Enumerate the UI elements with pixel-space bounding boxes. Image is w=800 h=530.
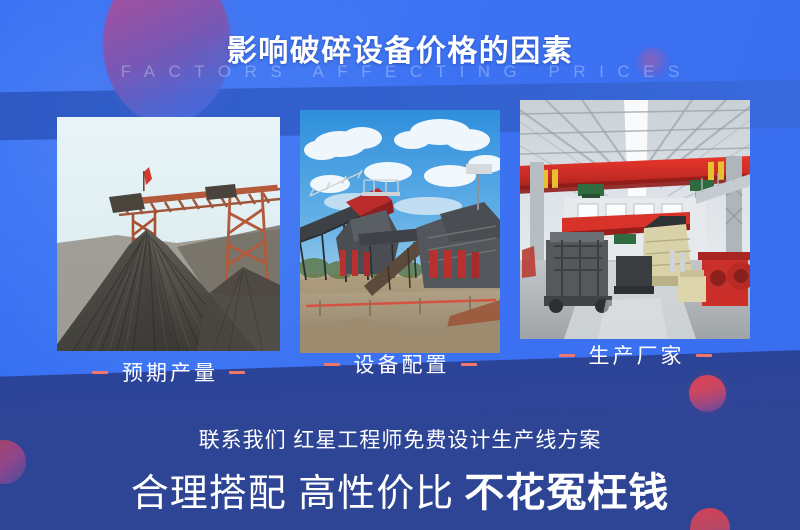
caption-label: 生产厂家 [586,340,685,370]
caption-label: 设备配置 [351,349,450,379]
footer-slogan-strong: 不花冤枉钱 [464,471,669,515]
photo-aggregate-stockpile [57,117,280,351]
footer-slogan-light: 合理搭配 高性价比 [131,473,455,515]
feature-card-expected-output[interactable] [57,117,280,351]
caption-manufacturer: 生产厂家 [520,340,750,370]
caption-dash-right-icon [461,363,477,366]
photo-crushing-plant [300,110,500,353]
caption-dash-right-icon [696,354,712,357]
footer-slogan: 合理搭配 高性价比不花冤枉钱 [0,460,800,518]
poster-footer: 联系我们 红星工程师免费设计生产线方案 合理搭配 高性价比不花冤枉钱 [0,408,800,530]
poster-canvas: FACTORS AFFECTING PRICES 影响破碎设备价格的因素 [0,0,800,530]
caption-dash-right-icon [229,371,245,374]
feature-card-equipment-configuration[interactable] [300,110,500,353]
footer-contact-line: 联系我们 红星工程师免费设计生产线方案 [0,424,800,454]
caption-expected-output: 预期产量 [57,357,280,387]
caption-label: 预期产量 [119,357,218,387]
photo-factory-workshop [520,100,750,339]
caption-dash-left-icon [324,363,340,366]
caption-dash-left-icon [92,371,108,374]
feature-card-manufacturer[interactable] [520,100,750,339]
caption-equipment-configuration: 设备配置 [298,349,502,379]
caption-dash-left-icon [559,354,575,357]
